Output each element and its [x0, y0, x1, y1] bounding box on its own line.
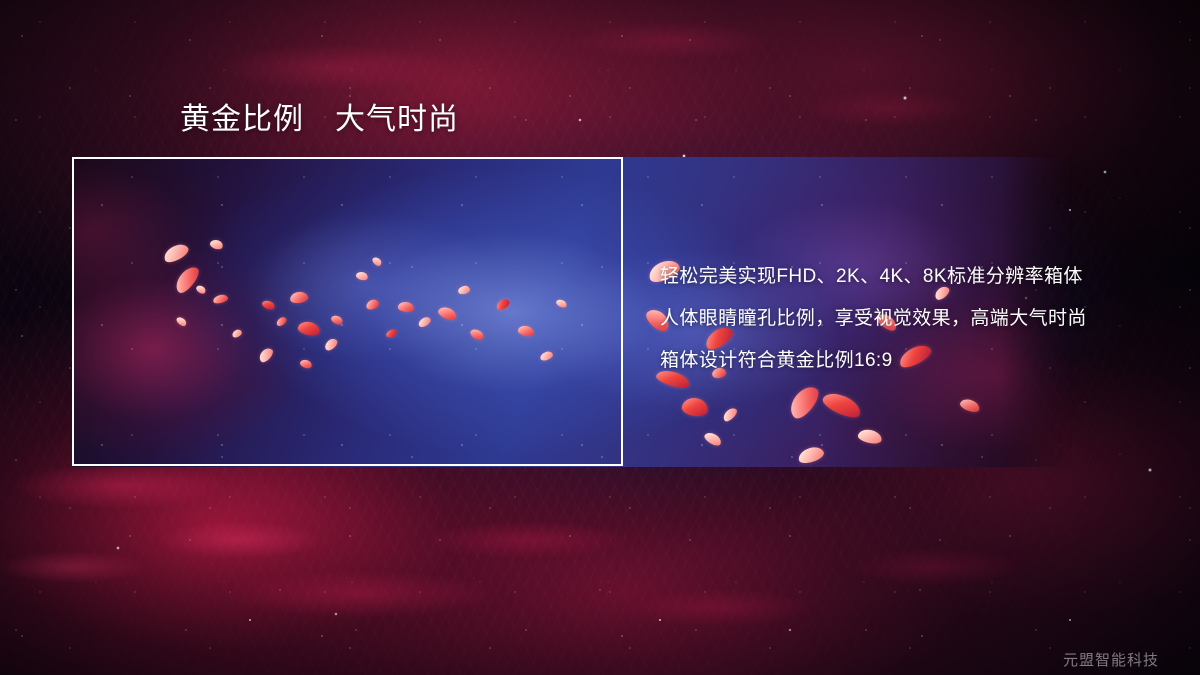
petal-outside-frame: [796, 444, 825, 465]
petal-outside-frame: [820, 389, 864, 422]
petal-outside-frame: [721, 406, 739, 424]
petal-outside-frame: [785, 382, 823, 423]
page-title: 黄金比例 大气时尚: [180, 101, 459, 139]
petal-outside-frame: [681, 396, 709, 417]
body-line-1: 轻松完美实现FHD、2K、4K、8K标准分辨率箱体: [660, 256, 1180, 298]
body-line-3: 箱体设计符合黄金比例16:9: [660, 340, 1180, 382]
watermark-logo-text: 元盟智能科技: [1063, 649, 1159, 670]
petal-outside-frame: [959, 397, 982, 414]
presentation-slide: 黄金比例 大气时尚 轻松完美实现FHD、2K、4K、8K标准分辨率箱体 人体眼睛…: [0, 0, 1200, 675]
petal-outside-frame: [857, 428, 883, 446]
body-copy-block: 轻松完美实现FHD、2K、4K、8K标准分辨率箱体 人体眼睛瞳孔比例，享受视觉效…: [660, 256, 1180, 382]
petal-outside-frame: [703, 430, 724, 448]
body-line-2: 人体眼睛瞳孔比例，享受视觉效果，高端大气时尚: [660, 298, 1180, 340]
image-frame-panel: [72, 157, 623, 466]
